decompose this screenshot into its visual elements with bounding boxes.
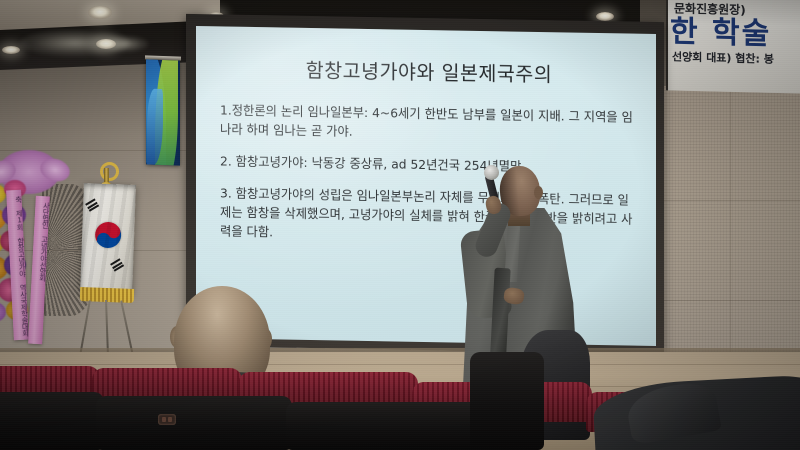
presentation-slide: 함창고녕가야와 일본제국주의 1.정한론의 논리 임나일본부: 4~6세기 한반… [196,26,656,346]
seat-backrest-top [0,392,104,450]
flower-petal [0,302,6,322]
floor-seam [0,364,800,365]
seat-backrest-top [470,352,544,450]
wall-seam-5 [730,86,731,376]
monk-ear [534,186,543,199]
seat-backrest-top [96,396,292,450]
korean-national-flag [76,168,134,358]
ceiling-downlight-1 [88,6,112,19]
banner-bottom-line: 선양회 대표) 협찬: 봉 [668,48,800,67]
slide-title: 함창고녕가야와 일본제국주의 [220,52,638,88]
seat-backrest-top [286,402,486,450]
lecture-hall-photo: 문화진흥원장) 한 학술 선양회 대표) 협찬: 봉 함창고녕가야와 일본제국주… [0,0,800,450]
flag-cloth [80,183,136,295]
ceiling-downlight-3 [2,46,20,54]
banner-headline: 한 학술 [668,16,800,51]
decorative-swoosh-banner [146,59,180,165]
microphone-head-icon [484,165,499,180]
slide-line-1: 1.정한론의 논리 임나일본부: 4~6세기 한반도 남부를 일본이 지배. 그… [220,101,638,146]
event-wall-banner: 문화진흥원장) 한 학술 선양회 대표) 협찬: 봉 [666,0,800,94]
seat-number-badge [158,414,176,425]
projection-screen-frame: 함창고녕가야와 일본제국주의 1.정한론의 논리 임나일본부: 4~6세기 한반… [186,14,664,354]
flag-drape-shadow [80,183,136,295]
ceiling-light-glow-2 [100,36,148,52]
ceiling-downlight-5 [596,12,614,21]
projection-screen-surface: 함창고녕가야와 일본제국주의 1.정한론의 논리 임나일본부: 4~6세기 한반… [196,26,656,346]
flag-finial-icon [100,162,119,181]
